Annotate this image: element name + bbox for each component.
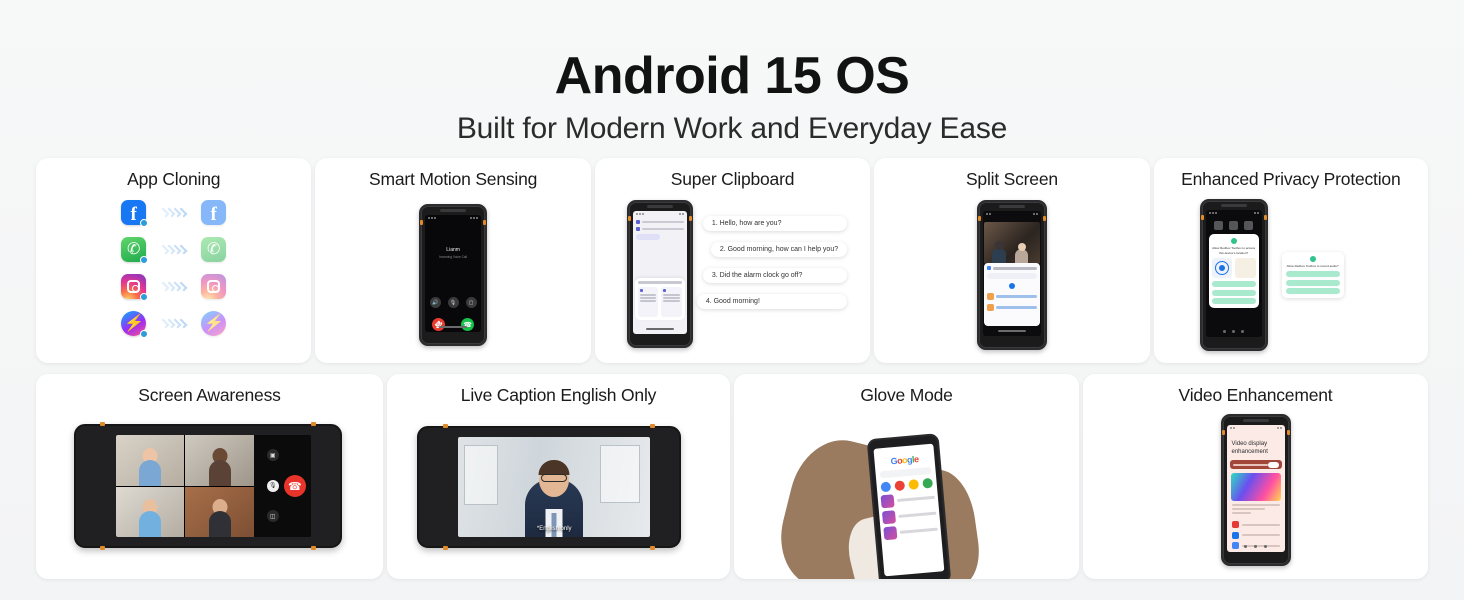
card-screen-awareness[interactable]: Screen Awareness [36,374,383,579]
participant-tile [185,487,254,538]
call-controls-pane: ▣ 🎙 ◫ ☎ [254,435,311,537]
card-video-enhancement[interactable]: Video Enhancement Video display enhancem… [1083,374,1428,579]
card-app-cloning[interactable]: App Cloning f f ✆ ✆ [36,158,311,363]
card-illustration: Lianm Incoming Voice Call 🔊 🎙 ▢ ☎ ☎ [315,190,590,355]
clipboard-bubble: 1. Hello, how are you? [703,216,847,231]
clone-row-whatsapp: ✆ ✆ [121,237,226,262]
chat-list [633,217,687,243]
home-indicator [646,328,674,330]
status-bar [425,215,481,221]
video-pane [984,222,1040,264]
schedule-pane [984,263,1040,326]
rugged-phone-landscape: *English only [417,426,681,548]
card-illustration: Google [734,406,1079,571]
location-accuracy-options[interactable] [1212,258,1256,278]
rugged-phone-landscape: ▣ 🎙 ◫ ☎ [74,424,342,548]
rugged-phone-device [627,200,693,348]
enhancement-toggle-row[interactable] [1230,460,1282,469]
caller-name: Lianm [425,247,481,253]
glasses-icon [541,474,567,482]
phone-screen: Lianm Incoming Voice Call 🔊 🎙 ▢ ☎ ☎ [425,215,481,332]
app-clone-list: f f ✆ ✆ ⚡ [36,190,311,336]
android-feature-page: Android 15 OS Built for Modern Work and … [0,0,1464,600]
rugged-phone-device: Video display enhancement [1221,414,1291,566]
phone-hangup-icon[interactable]: ☎ [284,475,306,497]
feed-item [881,507,936,525]
screen-share-icon[interactable]: ◫ [267,510,279,522]
phone-speaker [440,209,466,212]
card-title: Video Enhancement [1083,374,1428,406]
card-split-screen[interactable]: Split Screen [874,158,1149,363]
card-glove-mode[interactable]: Glove Mode Google [734,374,1079,579]
card-title: Split Screen [874,158,1149,190]
card-title: Screen Awareness [36,374,383,406]
card-title: Glove Mode [734,374,1079,406]
phone-screen [633,211,687,334]
phone-device: Google [866,433,951,579]
description-text [1227,501,1285,519]
participant-tile [116,487,185,538]
call-status-text: Incoming Voice Call [425,255,481,259]
phone-screen [983,211,1041,336]
facebook-icon: f [121,200,146,225]
precise-location-option [1212,258,1233,278]
google-logo: Google [874,453,935,468]
clone-row-facebook: f f [121,200,226,225]
clipboard-header [638,281,682,284]
card-title: Super Clipboard [595,158,870,190]
app-list-item [1232,532,1280,539]
permission-button-while-using[interactable] [1212,281,1256,287]
home-app-row [1206,216,1262,230]
shortcut-icon [894,480,905,491]
card-super-clipboard[interactable]: Super Clipboard [595,158,870,363]
card-enhanced-privacy-protection[interactable]: Enhanced Privacy Protection Allow Redbox… [1154,158,1428,363]
speaker-icon[interactable]: 🔊 [430,297,441,308]
home-indicator [439,326,467,328]
card-illustration: f f ✆ ✆ ⚡ [36,190,311,355]
navigation-bar [1206,330,1262,333]
secondary-permission-dialog: Allow Redbox Toolbox to record audio? [1282,252,1344,298]
search-input[interactable] [987,273,1037,279]
phone-screen: Google [873,444,944,577]
microphone-shield-icon [1310,256,1316,262]
app-list-item [1232,521,1280,528]
phone-speaker [647,205,673,208]
video-scene: *English only [458,437,650,537]
chevron-right-icon [162,208,185,217]
search-input[interactable] [879,467,931,479]
feature-row-2: Screen Awareness [36,374,1428,579]
phone-speaker [1221,204,1247,207]
card-title: Smart Motion Sensing [315,158,590,190]
shortcut-icon [880,482,891,493]
clipboard-panel [635,278,685,320]
location-shield-icon [1231,238,1237,244]
schedule-list-item [987,304,1037,311]
mic-icon[interactable]: 🎙 [448,297,459,308]
call-action-row: ☎ ☎ [425,318,481,331]
messenger-icon: ⚡ [121,311,146,336]
clipboard-bubble: 3. Did the alarm clock go off? [703,268,847,283]
clipboard-bubble: 2. Good morning, how can I help you? [711,242,847,257]
date-strip[interactable] [987,283,1037,289]
phone-speaker [999,205,1025,208]
schedule-list-item [987,293,1037,300]
clone-row-messenger: ⚡ ⚡ [121,311,226,336]
permission-button-only-this-time[interactable] [1286,280,1340,286]
rugged-phone-device [977,200,1047,350]
feed-list [880,491,938,541]
page-title: Android 15 OS [0,48,1464,104]
chat-chip [636,234,660,240]
schedule-header [987,266,1037,270]
feature-row-1: App Cloning f f ✆ ✆ [36,158,1428,363]
permission-dialog-title: Allow Redbox Toolbox to access this devi… [1212,246,1256,255]
phone-screen: Allow Redbox Toolbox to access this devi… [1206,210,1262,337]
preview-image [1231,473,1281,501]
instagram-clone-icon [201,274,226,299]
glove-illustration: Google [734,428,1079,579]
screen-title: Video display enhancement [1227,431,1285,456]
chevron-right-icon [162,319,185,328]
card-title: App Cloning [36,158,311,190]
clipboard-item [661,287,682,317]
phone-screen: ▣ 🎙 ◫ ☎ [116,435,311,537]
card-live-caption[interactable]: Live Caption English Only [387,374,730,579]
keypad-icon[interactable]: ▢ [466,297,477,308]
whatsapp-icon: ✆ [121,237,146,262]
page-header: Android 15 OS Built for Modern Work and … [0,0,1464,146]
rugged-phone-device: Allow Redbox Toolbox to access this devi… [1200,199,1268,351]
phone-speaker [1243,419,1269,422]
chevron-right-icon [162,282,185,291]
card-title: Enhanced Privacy Protection [1154,158,1428,190]
toggle-switch[interactable] [1268,462,1279,468]
chevron-right-icon [162,245,185,254]
feed-item [880,491,935,509]
card-illustration: *English only [387,406,730,571]
video-call-grid [116,435,255,537]
page-subtitle: Built for Modern Work and Everyday Ease [0,112,1464,146]
messenger-clone-icon: ⚡ [201,311,226,336]
secondary-dialog-title: Allow Redbox Toolbox to record audio? [1286,264,1340,269]
permission-button-dont-allow[interactable] [1212,298,1256,304]
permission-button-while-using[interactable] [1286,271,1340,277]
approximate-location-option [1235,258,1256,278]
shortcut-icon [908,479,919,490]
feed-item [883,523,938,541]
permission-button-only-this-time[interactable] [1212,290,1256,296]
facebook-clone-icon: f [201,200,226,225]
phone-answer-icon[interactable]: ☎ [461,318,474,331]
mic-icon[interactable]: 🎙 [267,480,279,492]
navigation-bar [1227,545,1285,548]
card-illustration: ▣ 🎙 ◫ ☎ [36,406,383,571]
phone-screen: *English only [458,437,650,537]
participant-tile [185,435,254,486]
clipboard-items [638,287,682,317]
phone-screen: Video display enhancement [1227,425,1285,552]
instagram-icon [121,274,146,299]
whatsapp-clone-icon: ✆ [201,237,226,262]
permission-dialog: Allow Redbox Toolbox to access this devi… [1209,234,1259,308]
live-caption-text: *English only [458,526,650,532]
camera-icon[interactable]: ▣ [267,449,279,461]
clipboard-bubble: 4. Good morning! [697,294,847,309]
clone-row-instagram [121,274,226,299]
rugged-phone-device: Lianm Incoming Voice Call 🔊 🎙 ▢ ☎ ☎ [419,204,487,346]
card-title: Live Caption English Only [387,374,730,406]
call-options-row: 🔊 🎙 ▢ [425,297,481,308]
shortcut-row [878,478,935,493]
home-indicator [998,330,1026,332]
status-bar [983,211,1041,217]
card-illustration: Video display enhancement [1083,406,1428,571]
card-illustration: 1. Hello, how are you? 2. Good morning, … [595,190,870,355]
card-smart-motion-sensing[interactable]: Smart Motion Sensing Lianm Incoming Voic… [315,158,590,363]
card-illustration: Allow Redbox Toolbox to access this devi… [1154,190,1428,355]
card-illustration [874,190,1149,355]
clipboard-bubble-list: 1. Hello, how are you? 2. Good morning, … [703,216,847,309]
clipboard-item [638,287,659,317]
shortcut-icon [922,478,933,489]
phone-hangup-icon[interactable]: ☎ [429,315,447,332]
permission-button-dont-allow[interactable] [1286,288,1340,294]
participant-tile [116,435,185,486]
